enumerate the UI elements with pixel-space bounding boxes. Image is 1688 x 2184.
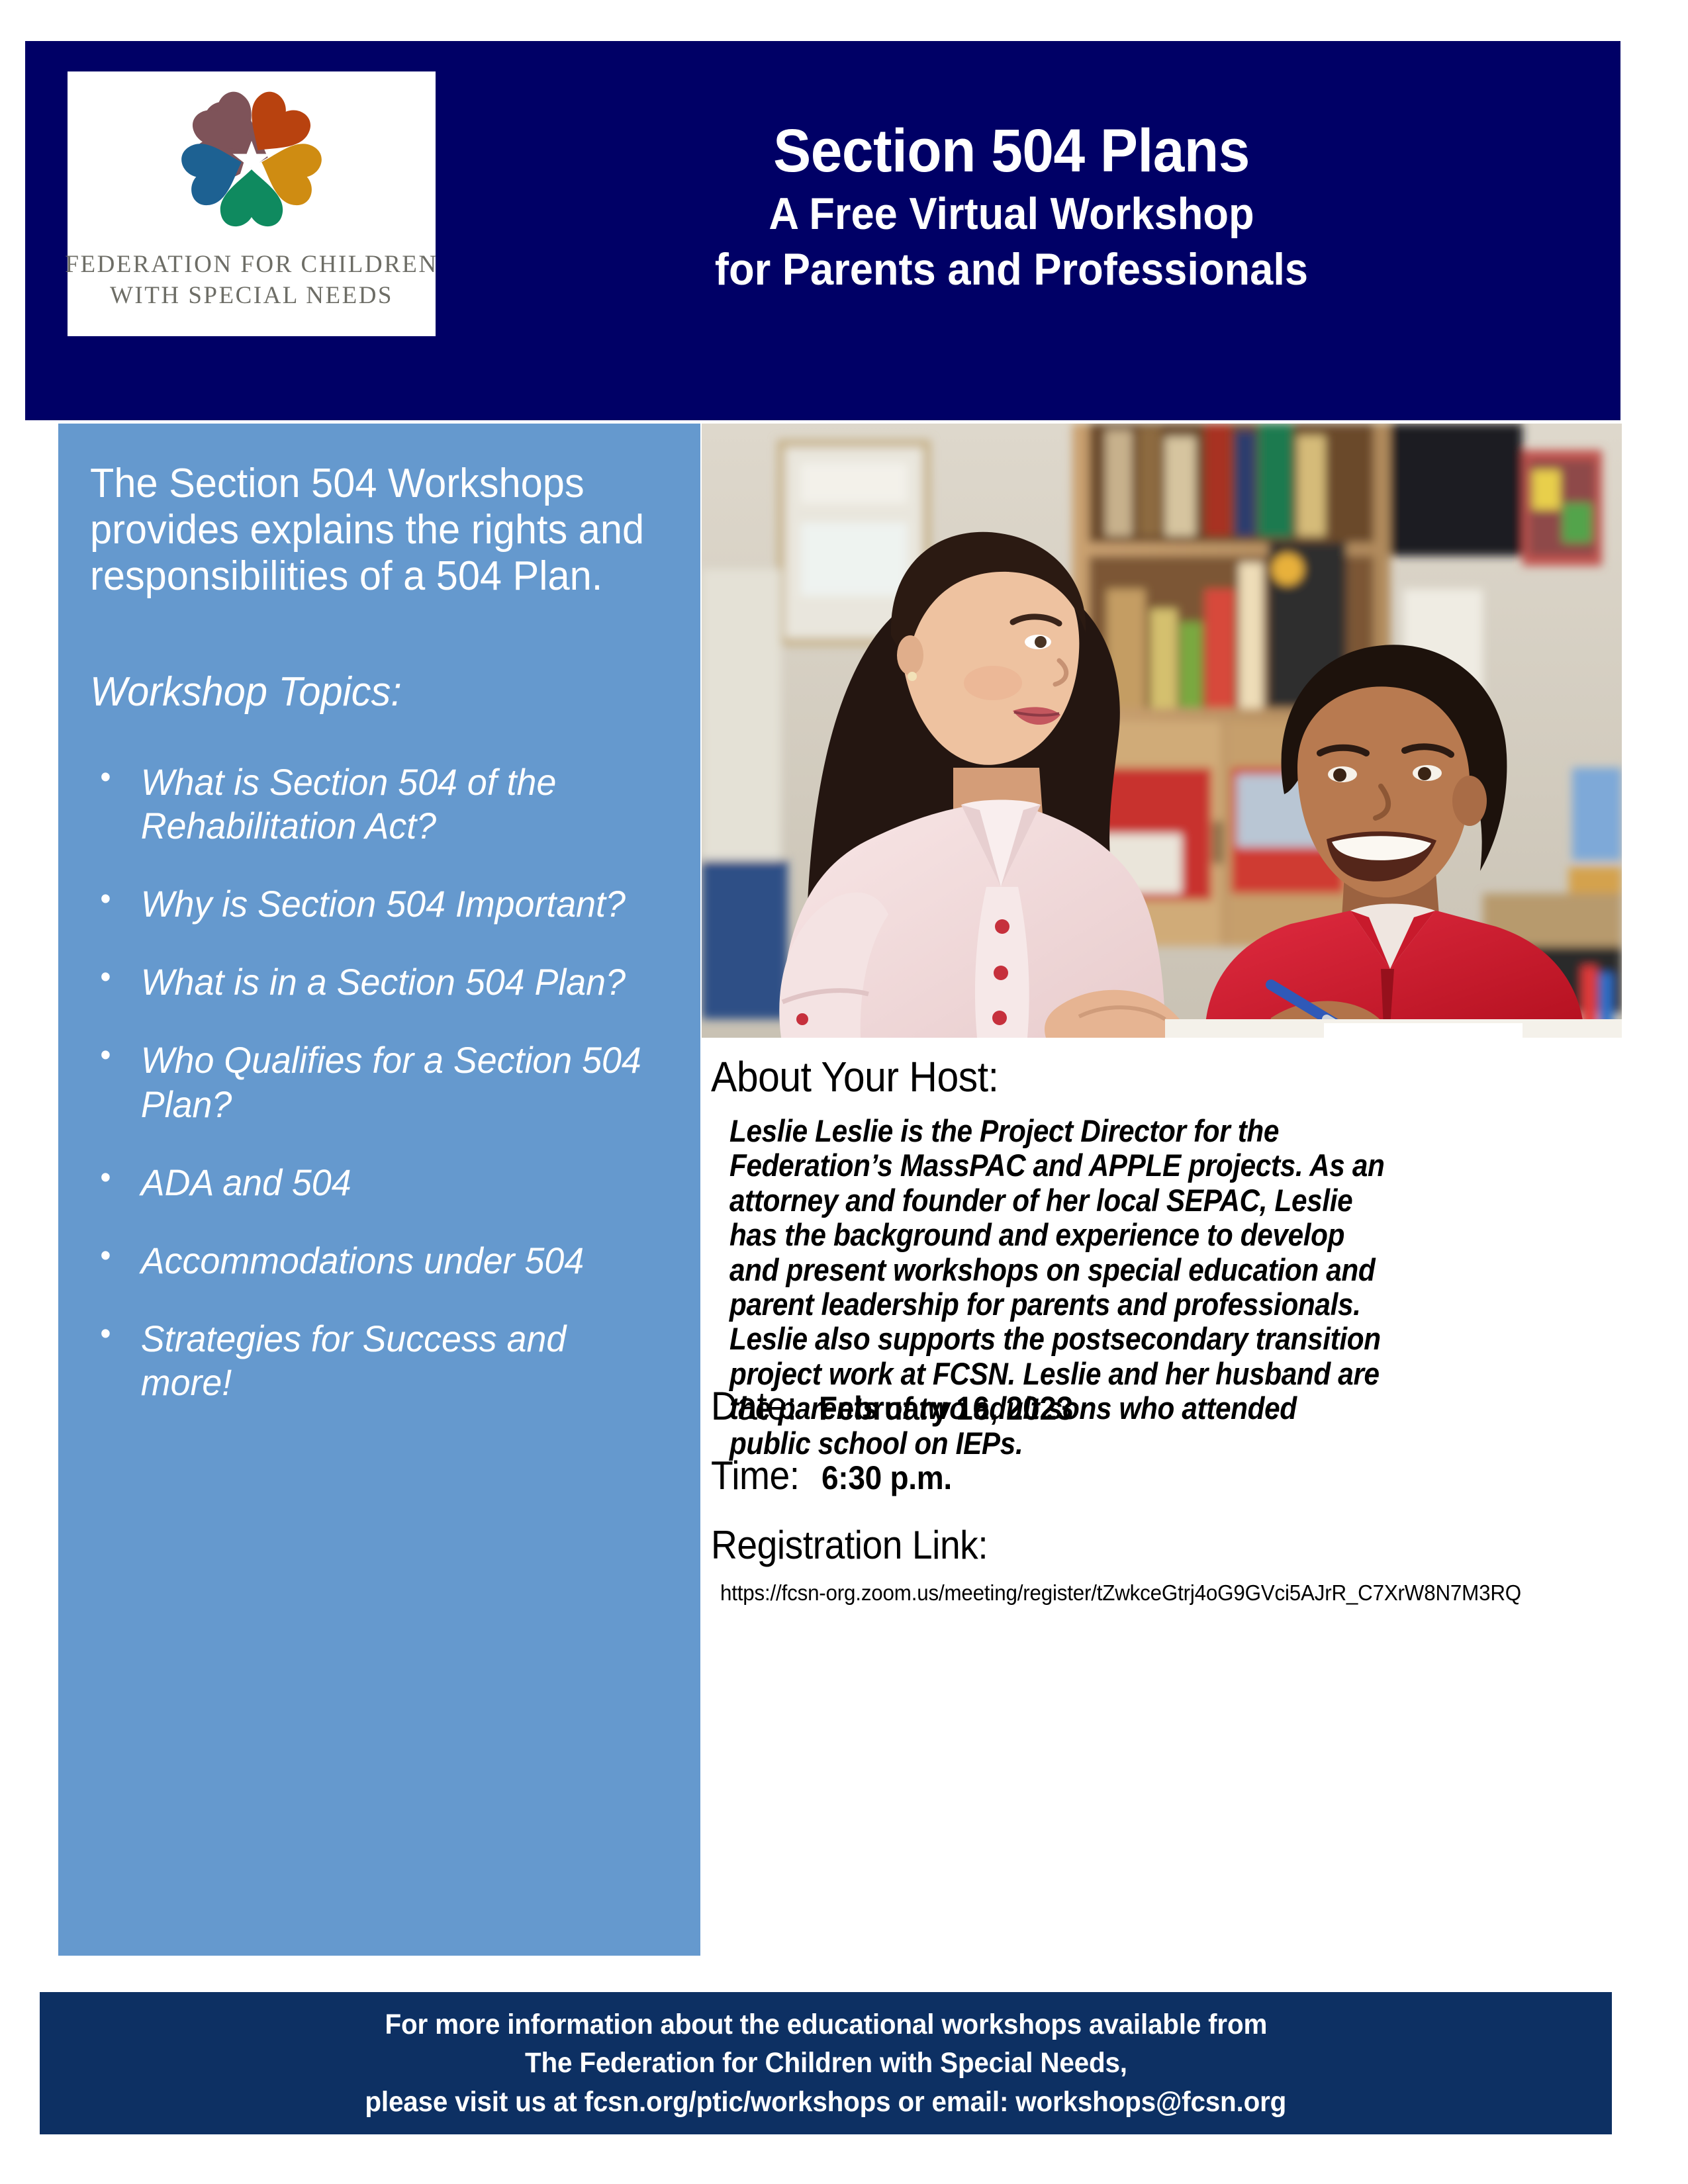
header-banner: FEDERATION FOR CHILDREN WITH SPECIAL NEE… — [25, 41, 1620, 420]
page-subtitle-line2: for Parents and Professionals — [489, 244, 1535, 295]
footer-line-2: The Federation for Children with Special… — [525, 2044, 1127, 2082]
date-label: Date: — [711, 1383, 797, 1429]
topic-item: Accommodations under 504 — [90, 1239, 645, 1283]
host-heading: About Your Host: — [711, 1052, 999, 1101]
time-row: Time: 6:30 p.m. — [711, 1453, 963, 1498]
sidebar-panel: The Section 504 Workshops provides expla… — [58, 424, 700, 1956]
flyer-page: FEDERATION FOR CHILDREN WITH SPECIAL NEE… — [0, 0, 1688, 2184]
footer-line-1: For more information about the education… — [385, 2005, 1267, 2044]
time-label: Time: — [711, 1453, 800, 1498]
registration-link[interactable]: https://fcsn-org.zoom.us/meeting/registe… — [720, 1580, 1601, 1606]
page-title: Section 504 Plans — [489, 119, 1535, 183]
topic-item: Strategies for Success and more! — [90, 1317, 645, 1404]
footer-banner: For more information about the education… — [40, 1992, 1612, 2134]
time-value: 6:30 p.m. — [821, 1459, 952, 1497]
topic-item: Why is Section 504 Important? — [90, 882, 645, 926]
topics-heading: Workshop Topics: — [90, 668, 645, 715]
topic-item: What is Section 504 of the Rehabilitatio… — [90, 760, 645, 848]
logo-wordmark: FEDERATION FOR CHILDREN WITH SPECIAL NEE… — [65, 249, 438, 312]
footer-line-3: please visit us at fcsn.org/ptic/worksho… — [365, 2083, 1287, 2121]
registration-label: Registration Link: — [711, 1522, 988, 1568]
topic-item: What is in a Section 504 Plan? — [90, 960, 645, 1004]
fcsn-logo-icon — [156, 81, 348, 246]
right-column: About Your Host: Leslie Leslie is the Pr… — [702, 424, 1622, 1956]
logo-box: FEDERATION FOR CHILDREN WITH SPECIAL NEE… — [68, 71, 436, 336]
logo-wordmark-line1: FEDERATION FOR CHILDREN — [65, 249, 438, 280]
date-row: Date: February 16, 2023 — [711, 1383, 1095, 1429]
topic-item: Who Qualifies for a Section 504 Plan? — [90, 1038, 645, 1126]
topics-list: What is Section 504 of the Rehabilitatio… — [90, 760, 669, 1404]
title-block: Section 504 Plans A Free Virtual Worksho… — [449, 119, 1574, 295]
logo-wordmark-line2: WITH SPECIAL NEEDS — [65, 280, 438, 311]
topic-item: ADA and 504 — [90, 1161, 645, 1205]
page-subtitle-line1: A Free Virtual Workshop — [489, 189, 1535, 239]
date-value: February 16, 2023 — [819, 1389, 1073, 1428]
classroom-photo — [702, 424, 1622, 1038]
intro-paragraph: The Section 504 Workshops provides expla… — [90, 461, 645, 600]
